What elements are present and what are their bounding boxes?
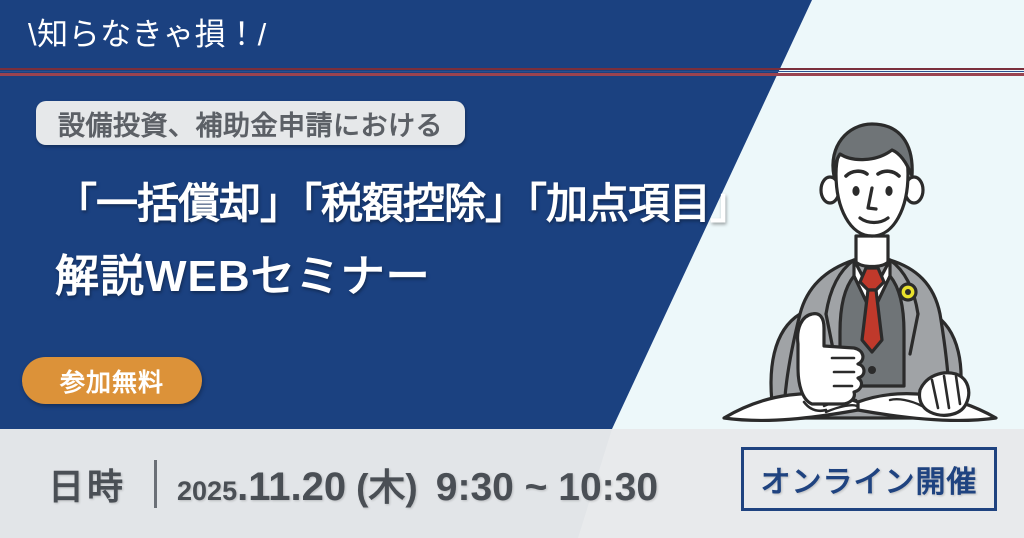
schedule-row: 日時 2025.11.20(木)9:30 ~ 10:30 xyxy=(48,429,658,538)
subtitle-chip: 設備投資、補助金申請における xyxy=(36,101,465,145)
divider-rule-bottom xyxy=(0,73,1024,76)
schedule-year: 2025 xyxy=(177,476,237,507)
schedule-day-of-week: (木) xyxy=(356,457,418,511)
divider-rules xyxy=(0,68,1024,78)
online-format-label: オンライン開催 xyxy=(761,457,978,501)
headline-line-2: 解説WEBセミナー xyxy=(55,240,431,304)
presenter-illustration xyxy=(704,118,1014,430)
schedule-value: 2025.11.20(木)9:30 ~ 10:30 xyxy=(177,457,658,511)
subtitle-chip-label: 設備投資、補助金申請における xyxy=(58,104,443,143)
divider-rule-top xyxy=(0,68,1024,70)
schedule-month-day: .11.20 xyxy=(237,465,346,510)
headline-line-1: 「一括償却」「税額控除」「加点項目」 xyxy=(55,170,751,231)
online-format-badge: オンライン開催 xyxy=(741,447,997,511)
schedule-label: 日時 xyxy=(48,458,126,510)
kicker-text: \知らなきゃ損！/ xyxy=(28,18,267,52)
schedule-time-range: 9:30 ~ 10:30 xyxy=(436,466,658,510)
free-participation-label: 参加無料 xyxy=(60,363,164,399)
free-participation-badge: 参加無料 xyxy=(22,357,202,404)
seminar-banner: \知らなきゃ損！/ 設備投資、補助金申請における 「一括償却」「税額控除」「加点… xyxy=(0,0,1024,538)
divider-rule-middle xyxy=(0,71,1024,72)
schedule-divider xyxy=(154,460,157,508)
